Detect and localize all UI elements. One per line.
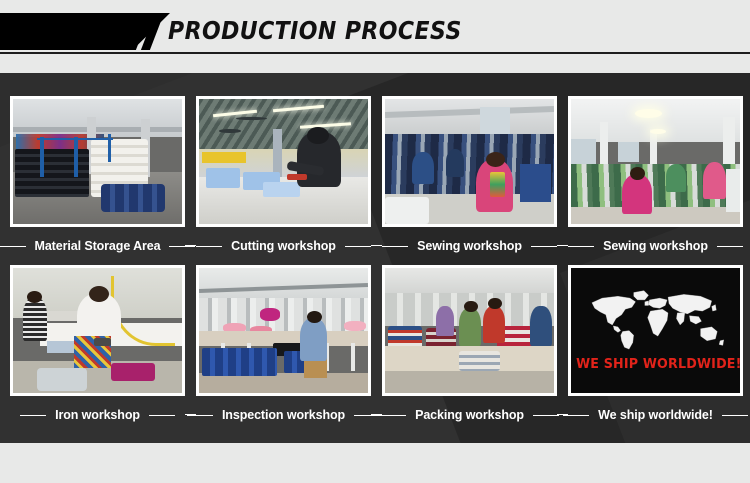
photo-grid: WE SHIP WORLDWIDE! [0,73,750,443]
world-map-icon [579,286,731,351]
iron-workshop-photo [13,268,182,393]
gallery-row-2: WE SHIP WORLDWIDE! [0,73,750,443]
page-header: PRODUCTION PROCESS [0,0,750,73]
production-process-page: PRODUCTION PROCESS [0,0,750,483]
world-map-photo: WE SHIP WORLDWIDE! [571,268,740,393]
double-slash-icon [132,13,164,50]
gallery-cell-inspection-workshop[interactable] [196,265,371,396]
photo-frame[interactable] [382,265,557,396]
photo-frame[interactable] [196,265,371,396]
photo-frame[interactable]: WE SHIP WORLDWIDE! [568,265,743,396]
gallery-cell-we-ship-worldwide[interactable]: WE SHIP WORLDWIDE! [568,265,743,396]
we-ship-worldwide-text: WE SHIP WORLDWIDE! [576,356,735,372]
packing-workshop-photo [385,268,554,393]
photo-frame[interactable] [10,265,185,396]
gallery-panel: WE SHIP WORLDWIDE! [0,73,750,443]
gallery-cell-iron-workshop[interactable] [10,265,185,396]
page-title: PRODUCTION PROCESS [168,14,462,48]
caption-connector [185,414,196,415]
inspection-workshop-photo [199,268,368,393]
gallery-cell-packing-workshop[interactable] [382,265,557,396]
caption-connector [557,414,568,415]
header-divider [0,52,750,54]
page-footer [0,443,750,483]
caption-connector [371,414,382,415]
